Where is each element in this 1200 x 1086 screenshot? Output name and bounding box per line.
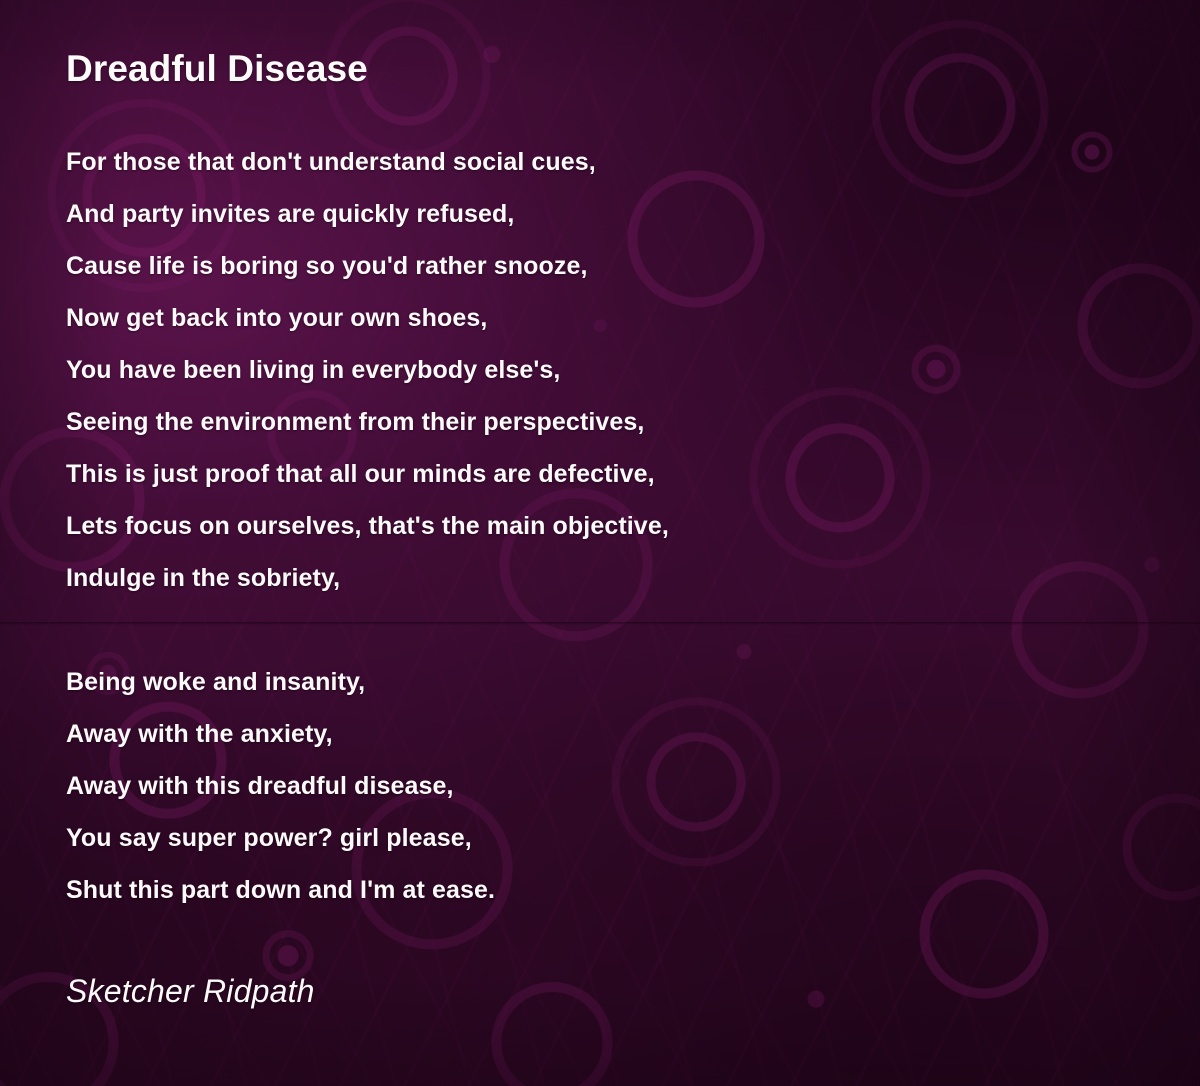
poem-line: For those that don't understand social c… xyxy=(66,136,1140,188)
poem-line: Now get back into your own shoes, xyxy=(66,292,1140,344)
poem-line: Indulge in the sobriety, xyxy=(66,552,1140,604)
poem-line: Cause life is boring so you'd rather sno… xyxy=(66,240,1140,292)
poem-line: Seeing the environment from their perspe… xyxy=(66,396,1140,448)
poem-line: This is just proof that all our minds ar… xyxy=(66,448,1140,500)
poem-stanza-2: Being woke and insanity, Away with the a… xyxy=(66,656,1140,916)
poem-line: And party invites are quickly refused, xyxy=(66,188,1140,240)
poem-line: Away with the anxiety, xyxy=(66,708,1140,760)
poem-card: Dreadful Disease For those that don't un… xyxy=(0,0,1200,1086)
poem-line: Lets focus on ourselves, that's the main… xyxy=(66,500,1140,552)
poem-line: Being woke and insanity, xyxy=(66,656,1140,708)
poem-content: Dreadful Disease For those that don't un… xyxy=(0,0,1200,1010)
poem-author: Sketcher Ridpath xyxy=(66,973,1140,1010)
poem-line: You say super power? girl please, xyxy=(66,812,1140,864)
poem-line: You have been living in everybody else's… xyxy=(66,344,1140,396)
poem-stanza-1: For those that don't understand social c… xyxy=(66,136,1140,604)
poem-title: Dreadful Disease xyxy=(66,0,1140,90)
poem-line: Away with this dreadful disease, xyxy=(66,760,1140,812)
poem-line: Shut this part down and I'm at ease. xyxy=(66,864,1140,916)
